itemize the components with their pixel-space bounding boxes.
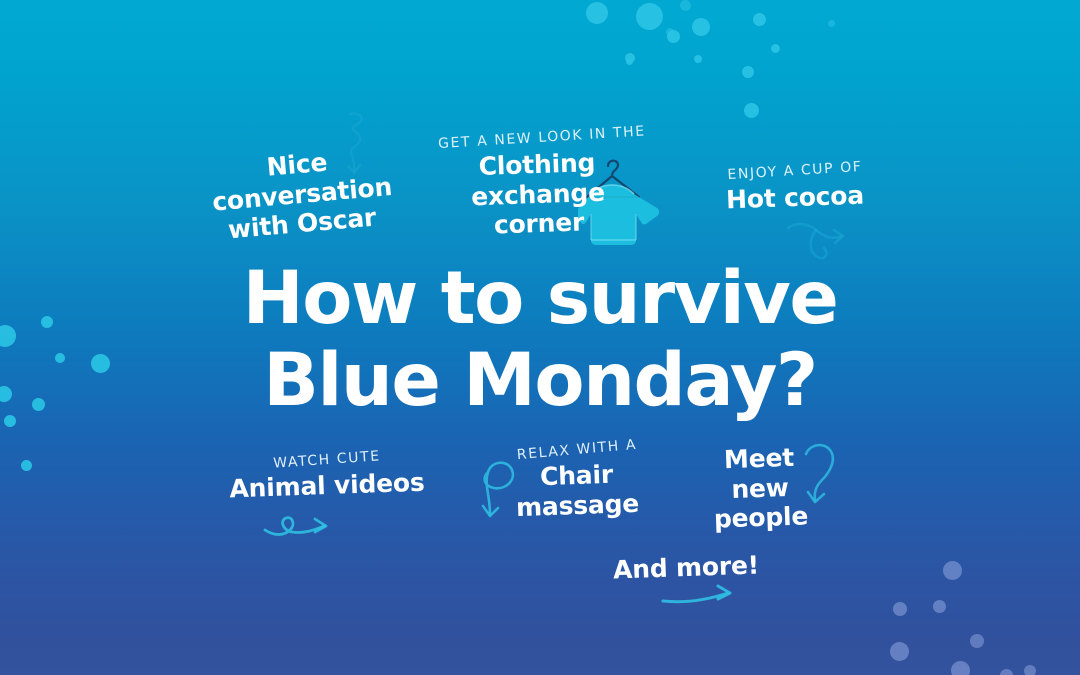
bubble — [1000, 669, 1013, 675]
bubble — [680, 0, 691, 11]
item-meet-new-people: Meet new people — [698, 442, 821, 535]
bubble — [744, 103, 759, 118]
bubble — [951, 661, 970, 675]
bubble — [753, 13, 766, 26]
item-title-line: new — [700, 471, 821, 505]
bubble — [890, 642, 909, 661]
bubble — [742, 66, 754, 78]
bubble — [667, 30, 680, 43]
arrow-more-icon — [660, 583, 746, 613]
arrow-animal-icon — [262, 508, 340, 548]
item-and-more: And more! — [596, 553, 776, 583]
item-animal-videos: WATCH CUTE Animal videos — [222, 452, 432, 501]
headline-line-1: How to survive — [0, 258, 1080, 340]
bubble — [771, 44, 780, 53]
headline-line-2: Blue Monday? — [0, 340, 1080, 422]
item-hot-cocoa: ENJOY A CUP OF Hot cocoa — [700, 163, 890, 213]
poster-canvas: Nice conversation with Oscar GET A NEW L… — [0, 0, 1080, 675]
item-title-line: corner — [439, 206, 640, 242]
item-title-line: massage — [492, 488, 663, 523]
bubble — [626, 58, 633, 65]
bubble — [828, 20, 835, 27]
item-title-line: people — [701, 501, 822, 535]
item-clothing-exchange: GET A NEW LOOK IN THE Clothing exchange … — [438, 130, 638, 239]
poster-headline: How to survive Blue Monday? — [0, 258, 1080, 423]
item-chair-massage: RELAX WITH A Chair massage — [492, 442, 662, 520]
bubble — [893, 602, 907, 616]
bubble — [933, 600, 946, 613]
bubble — [943, 561, 962, 580]
bubble — [21, 460, 32, 471]
item-title-line: Hot cocoa — [700, 180, 891, 216]
item-title-line: Meet — [698, 442, 819, 476]
bubble — [666, 28, 674, 36]
bubble — [636, 3, 663, 30]
item-title-line: And more! — [596, 550, 777, 586]
item-nice-conversation: Nice conversation with Oscar — [208, 143, 390, 246]
bubble — [694, 55, 702, 63]
bubble — [1024, 665, 1036, 675]
bubble — [586, 2, 608, 24]
item-title-line: Animal videos — [222, 467, 433, 504]
bubble — [625, 53, 635, 63]
bubble — [692, 18, 710, 36]
bubble — [970, 634, 984, 648]
